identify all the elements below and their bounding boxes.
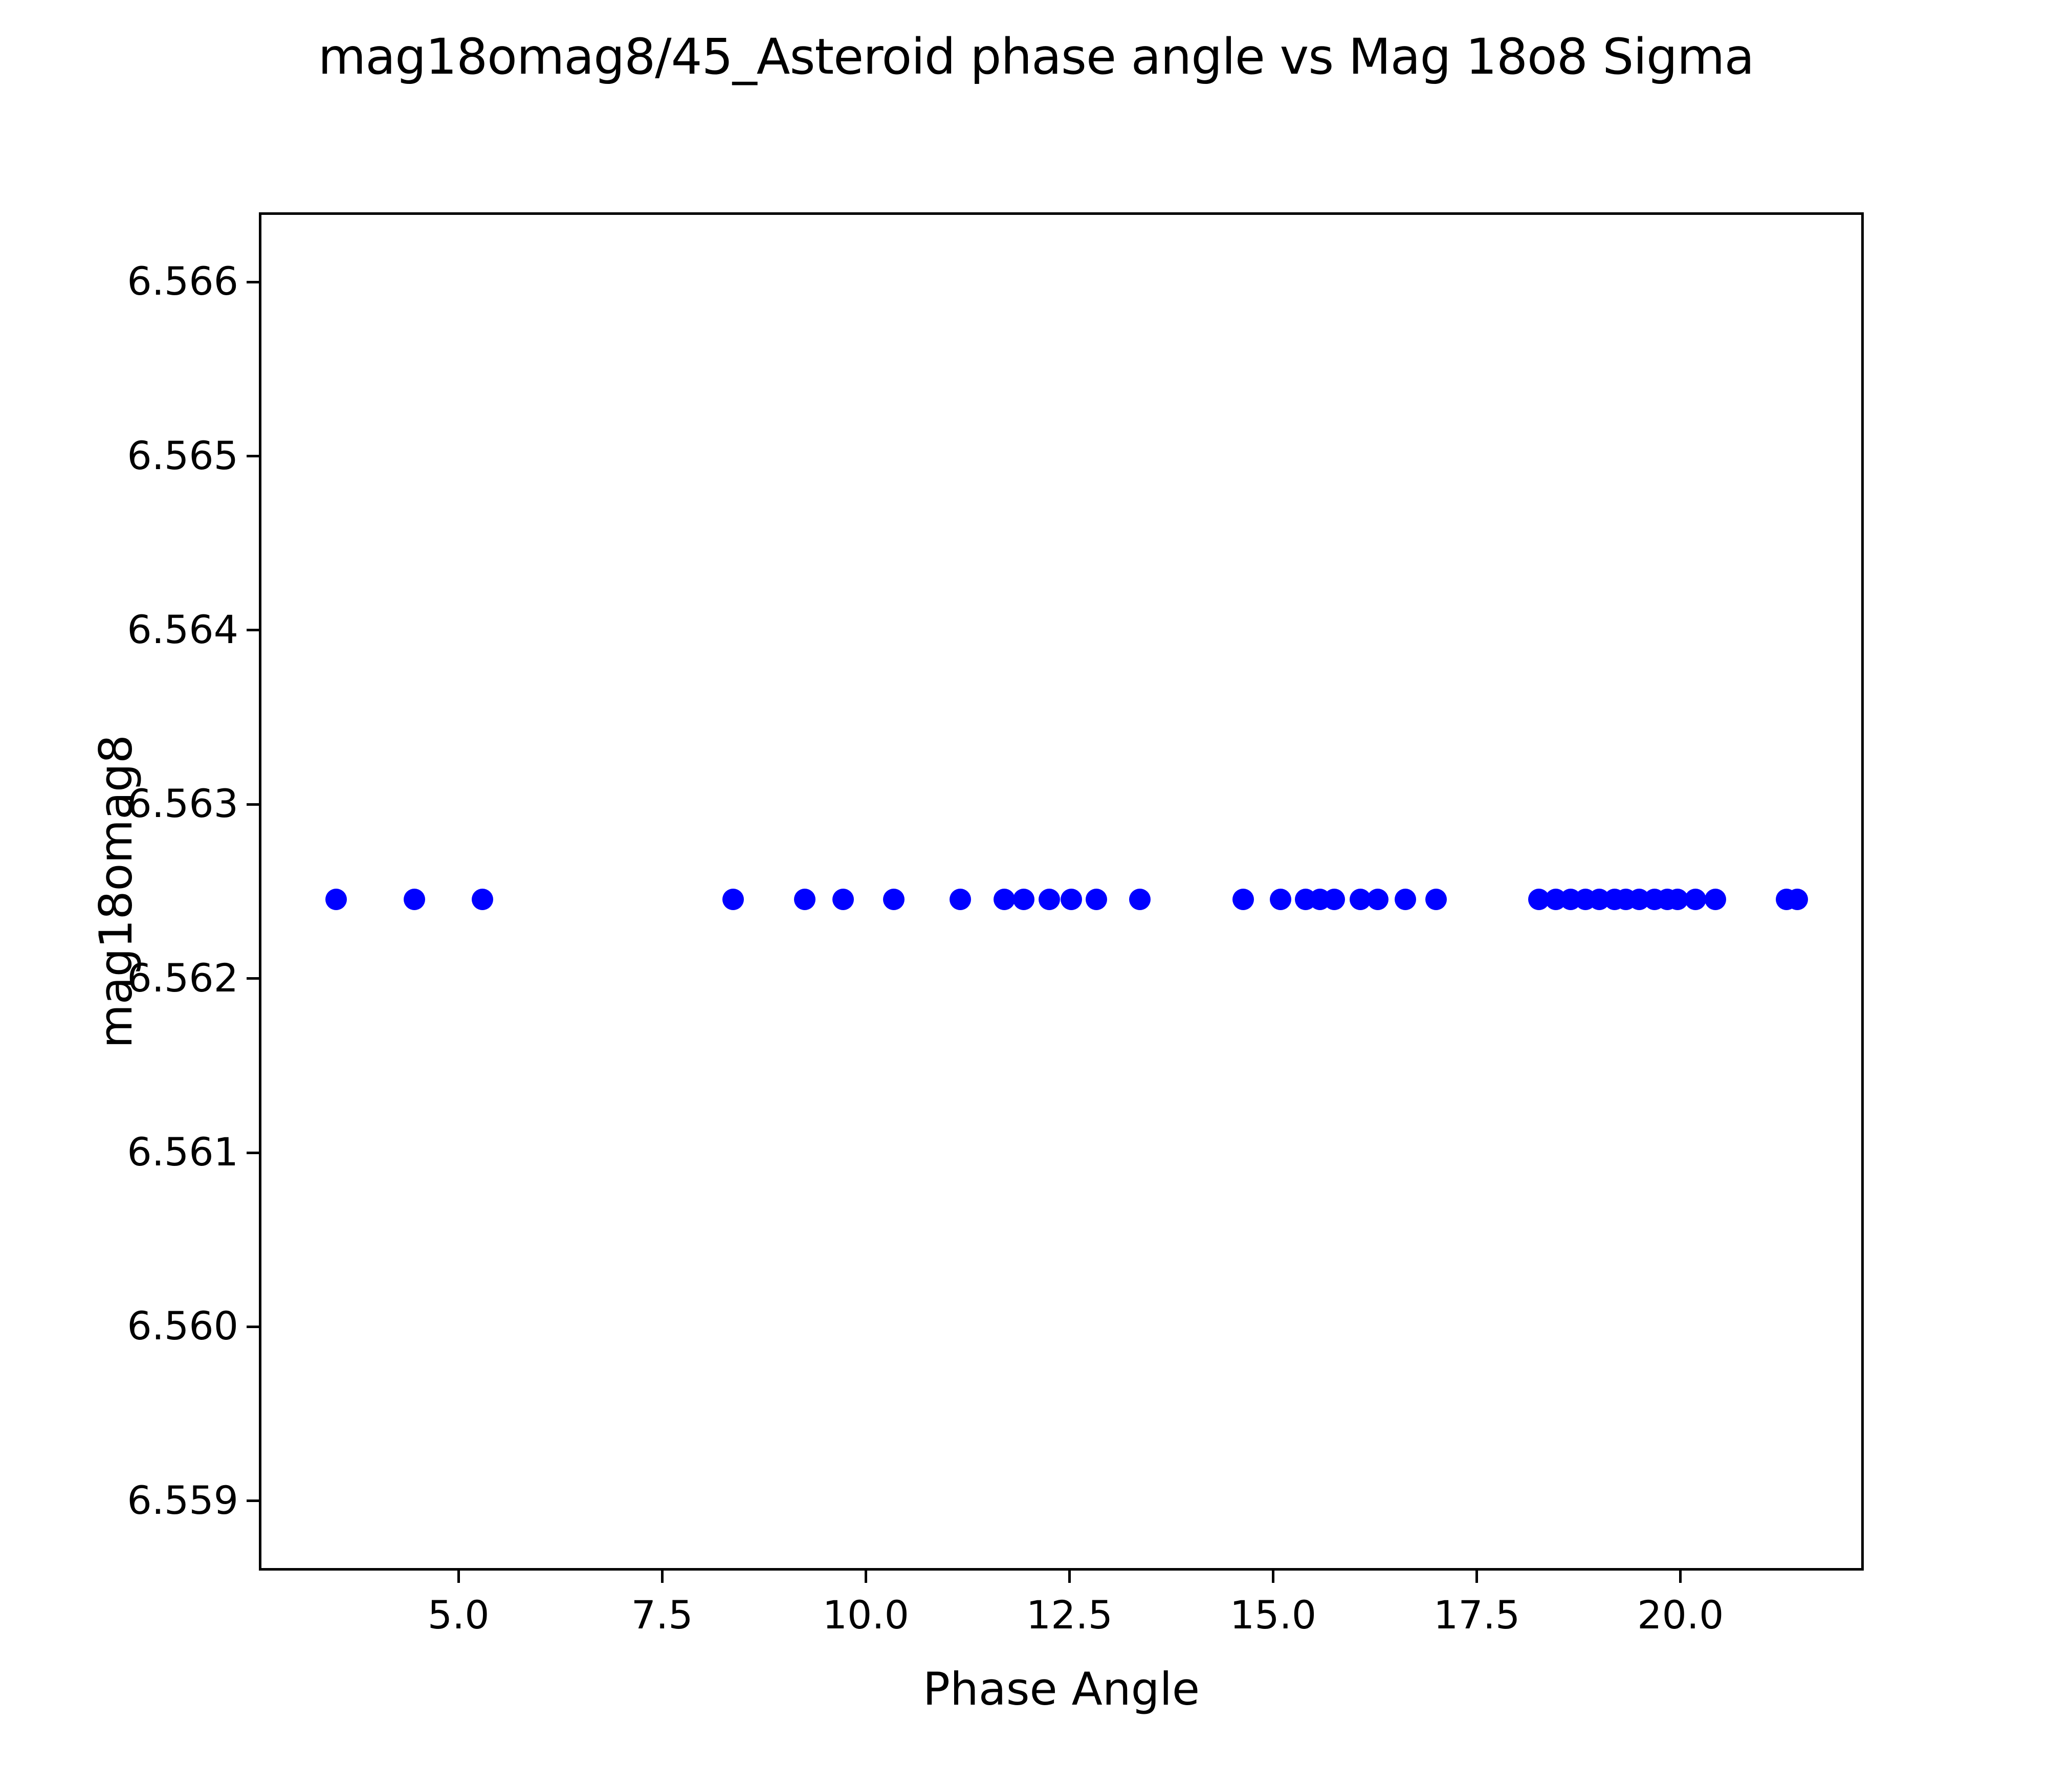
x-tick-mark [1068, 1571, 1071, 1583]
data-point [1324, 889, 1345, 910]
data-point [1367, 889, 1388, 910]
data-point [1086, 889, 1107, 910]
x-tick-mark [457, 1571, 460, 1583]
y-tick-mark [247, 281, 259, 283]
data-point [1039, 889, 1060, 910]
plot-area [259, 212, 1864, 1571]
x-tick-mark [661, 1571, 664, 1583]
data-point [883, 889, 905, 910]
data-point [325, 889, 347, 910]
data-point [1395, 889, 1416, 910]
y-tick-mark [247, 1152, 259, 1154]
x-tick-mark [1679, 1571, 1682, 1583]
x-tick-mark [865, 1571, 867, 1583]
y-tick-mark [247, 977, 259, 980]
data-point [1013, 889, 1034, 910]
data-point [1270, 889, 1291, 910]
y-tick-mark [247, 1326, 259, 1328]
data-point [722, 889, 744, 910]
data-point [1425, 889, 1447, 910]
data-point [404, 889, 425, 910]
y-tick-mark [247, 803, 259, 806]
page-title: mag18omag8/45_Asteroid phase angle vs Ma… [0, 28, 2072, 85]
x-tick-label: 20.0 [1553, 1592, 1809, 1638]
scatter-points-layer [261, 215, 1861, 1568]
x-tick-mark [1272, 1571, 1274, 1583]
x-tick-mark [1475, 1571, 1478, 1583]
y-axis-label: mag18omag8 [90, 212, 142, 1571]
data-point [1232, 889, 1254, 910]
data-point [994, 889, 1015, 910]
data-point [950, 889, 971, 910]
data-point [1787, 889, 1808, 910]
y-tick-mark [247, 1499, 259, 1502]
figure-canvas: mag18omag8/45_Asteroid phase angle vs Ma… [0, 0, 2072, 1765]
x-axis-label: Phase Angle [259, 1663, 1864, 1715]
data-point [1705, 889, 1726, 910]
y-tick-mark [247, 629, 259, 631]
data-point [794, 889, 815, 910]
data-point [832, 889, 854, 910]
data-point [472, 889, 493, 910]
data-point [1129, 889, 1151, 910]
y-tick-mark [247, 455, 259, 457]
data-point [1685, 889, 1706, 910]
data-point [1061, 889, 1082, 910]
